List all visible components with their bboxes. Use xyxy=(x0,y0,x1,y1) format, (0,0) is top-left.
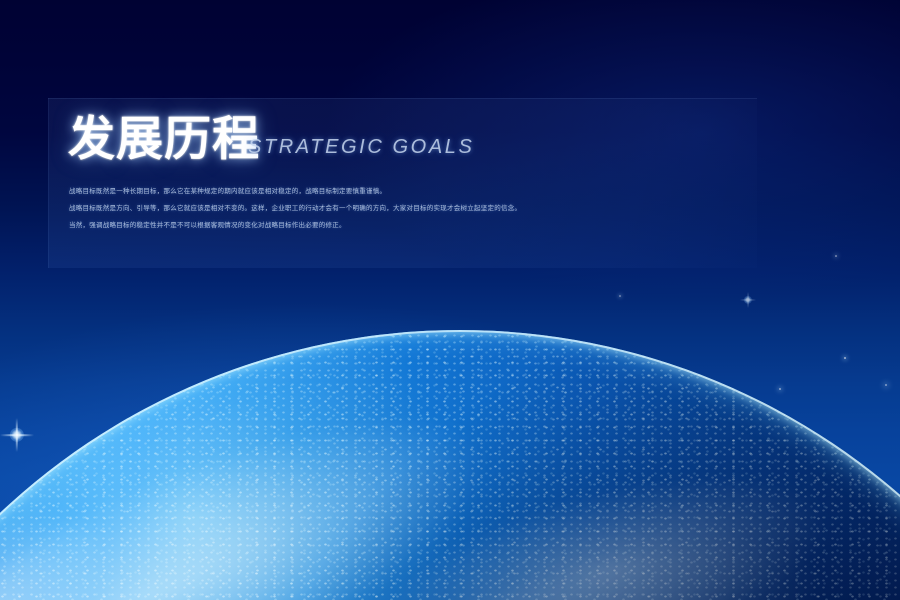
upper-sky-glow xyxy=(0,0,900,600)
body-paragraphs: 战略目标既然是一种长期目标，那么它在某种规定的期内就应该是相对稳定的，战略目标制… xyxy=(69,186,759,237)
title-row: 发展历程STRATEGIC GOALS xyxy=(68,116,474,163)
content-panel: 发展历程STRATEGIC GOALS 战略目标既然是一种长期目标，那么它在某种… xyxy=(48,98,757,268)
hero-banner: 发展历程STRATEGIC GOALS 战略目标既然是一种长期目标，那么它在某种… xyxy=(0,0,900,600)
page-title: 发展历程 xyxy=(68,112,260,167)
body-line: 战略目标既然是方向、引导等，那么它就应该是相对不变的。这样，企业职工的行动才会有… xyxy=(69,203,759,214)
body-line: 当然，强调战略目标的稳定性并不是不可以根据客观情况的变化对战略目标作出必要的修正… xyxy=(69,220,759,231)
page-subtitle: STRATEGIC GOALS xyxy=(248,136,474,158)
body-line: 战略目标既然是一种长期目标，那么它在某种规定的期内就应该是相对稳定的，战略目标制… xyxy=(69,186,759,197)
